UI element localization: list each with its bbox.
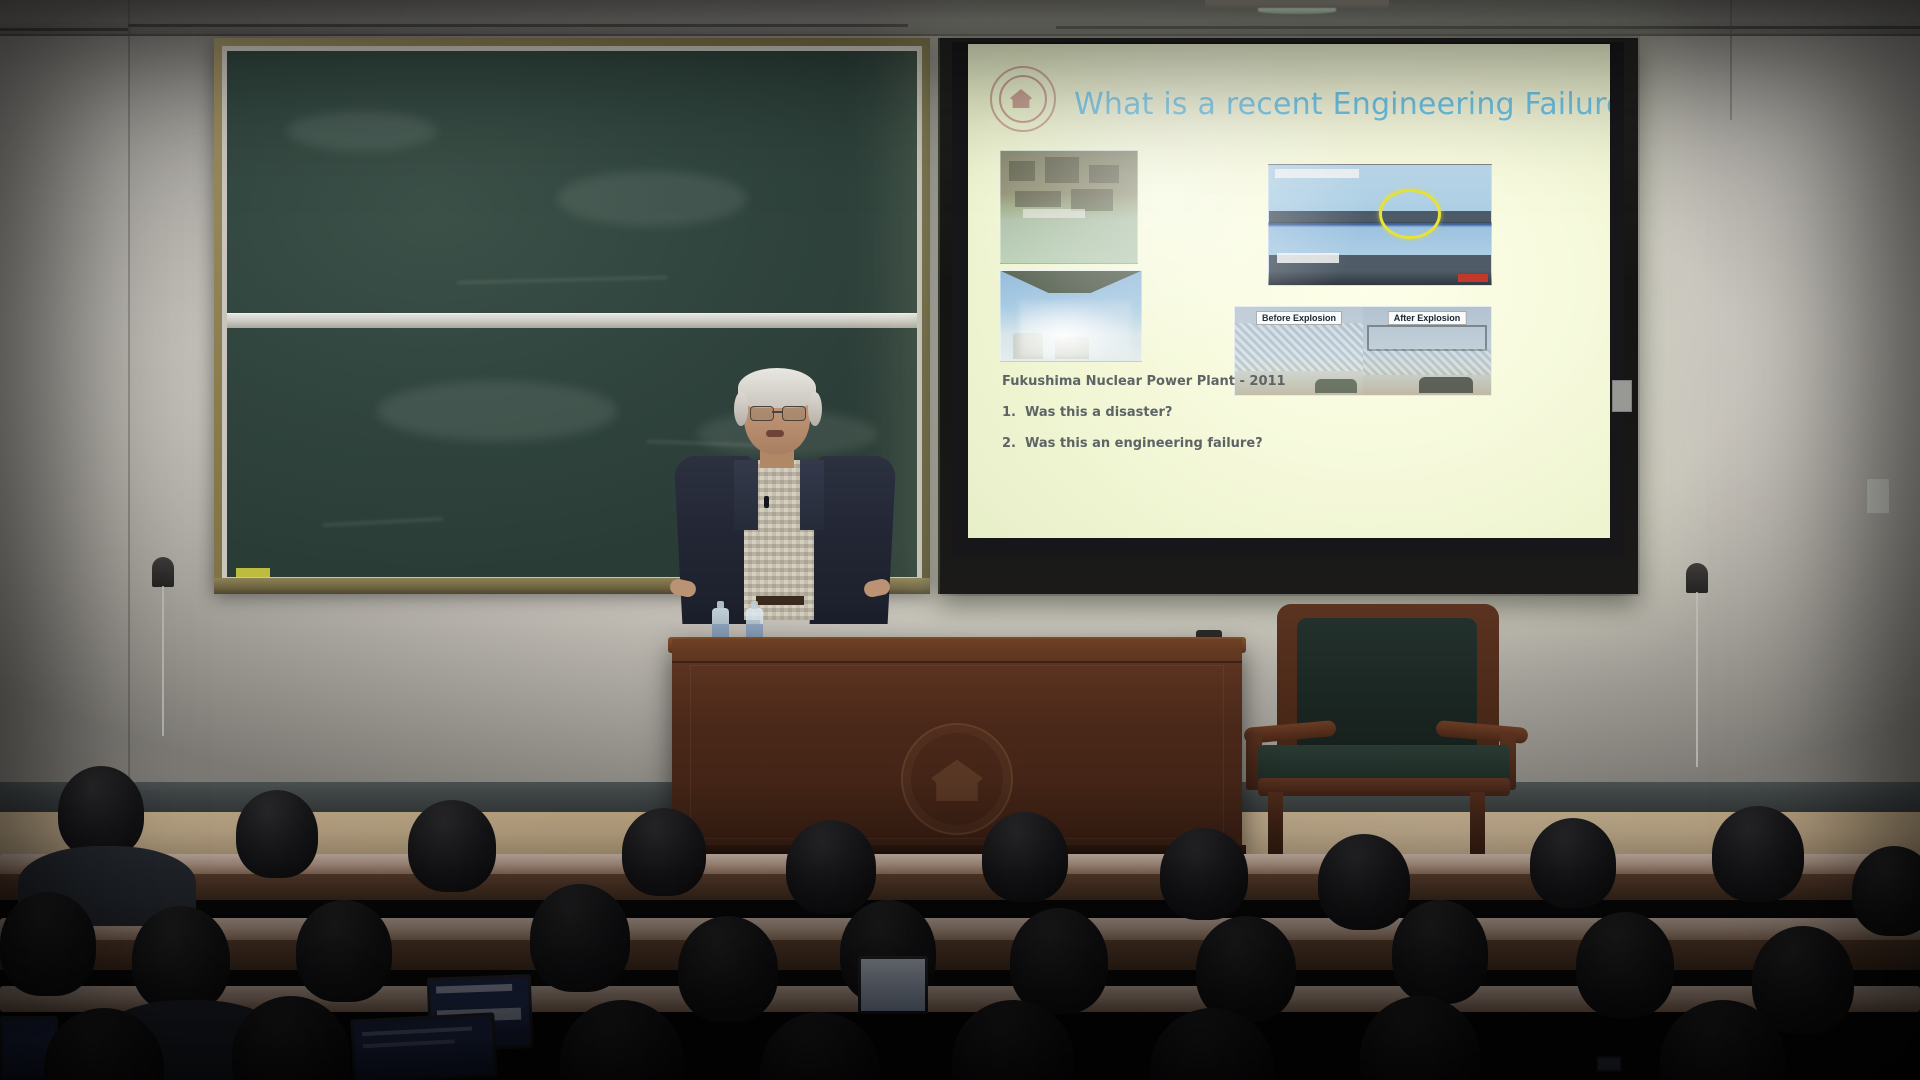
lecturer-hair-side [734, 392, 748, 426]
audience-head [1196, 916, 1296, 1022]
audience-head [1160, 828, 1248, 920]
lapel-microphone-icon [764, 496, 769, 508]
audience-head [0, 892, 96, 996]
lecturer-lapel-right [800, 460, 824, 530]
slide-question-1-number: 1. [1002, 405, 1014, 420]
audience-head [622, 808, 706, 896]
lecturer-lapel-left [734, 460, 758, 530]
audience-head [1392, 900, 1488, 1004]
audience-head [408, 800, 496, 892]
slide-question-2-text: Was this an engineering failure? [1025, 436, 1263, 451]
slide-caption: Fukushima Nuclear Power Plant - 2011 [1002, 374, 1342, 389]
slide-question-1-text: Was this a disaster? [1025, 405, 1172, 420]
slide-image-tv-broadcast [1268, 164, 1492, 286]
eyeglasses-icon [750, 406, 804, 419]
after-explosion-label: After Explosion [1388, 311, 1467, 325]
audience-head [132, 906, 230, 1012]
desk-row-front [0, 874, 1920, 900]
lecturer [672, 368, 904, 658]
audience-head [760, 1012, 880, 1080]
before-explosion-label: Before Explosion [1256, 311, 1342, 325]
projector-lens-icon [1258, 8, 1336, 14]
audience-head [1010, 908, 1108, 1014]
podium [672, 639, 1242, 857]
audience-laptop[interactable] [858, 956, 928, 1014]
slide-body-text: Fukushima Nuclear Power Plant - 2011 1. … [1002, 374, 1342, 467]
lecture-hall-screenshot: EPSON What is a recent Engineering Failu… [0, 0, 1920, 1080]
audience-head [1712, 806, 1804, 902]
projection-screen[interactable]: What is a recent Engineering Failure? [968, 44, 1610, 538]
slide-question-2: 2. Was this an engineering failure? [1002, 436, 1342, 451]
wall-fixture [1866, 478, 1890, 514]
slide-question-2-number: 2. [1002, 436, 1014, 451]
annotation-ellipse [1379, 189, 1441, 239]
broadcast-red-banner [1458, 274, 1488, 282]
wall-speaker-right [1686, 563, 1708, 593]
lecturer-hair [738, 368, 816, 408]
audience-head [1530, 818, 1616, 908]
slide-title: What is a recent Engineering Failure? [1074, 87, 1610, 122]
lecturer-mouth [766, 430, 784, 437]
sjtu-crest-icon [990, 66, 1056, 132]
audience-head [58, 766, 144, 858]
slide-image-explosion-smoke [1000, 270, 1142, 362]
after-explosion-panel: After Explosion [1363, 307, 1491, 395]
board-tag [236, 568, 270, 577]
speaker-cable [162, 586, 164, 736]
audience-head [982, 812, 1068, 902]
chalkboard-divider-rail [227, 313, 917, 328]
university-seal-icon [901, 723, 1013, 835]
wall-fixture [1612, 380, 1632, 412]
audience-laptop[interactable] [350, 1012, 497, 1080]
audience-head [530, 884, 630, 992]
audience-head [1852, 846, 1920, 936]
audience-head [296, 900, 392, 1002]
audience-head [560, 1000, 684, 1080]
slide-question-1: 1. Was this a disaster? [1002, 405, 1342, 420]
speaker-cable [1696, 592, 1698, 767]
audience-head [1318, 834, 1410, 930]
wall-speaker-left [152, 557, 174, 587]
lecturer-hair-side [808, 392, 822, 426]
audience-head [1576, 912, 1674, 1018]
lecturer-belt [756, 596, 804, 605]
audience-phone[interactable] [1596, 1056, 1622, 1072]
audience-head [678, 916, 778, 1022]
audience-head [786, 820, 876, 914]
slide-image-aerial [1000, 150, 1138, 264]
audience-head [236, 790, 318, 878]
